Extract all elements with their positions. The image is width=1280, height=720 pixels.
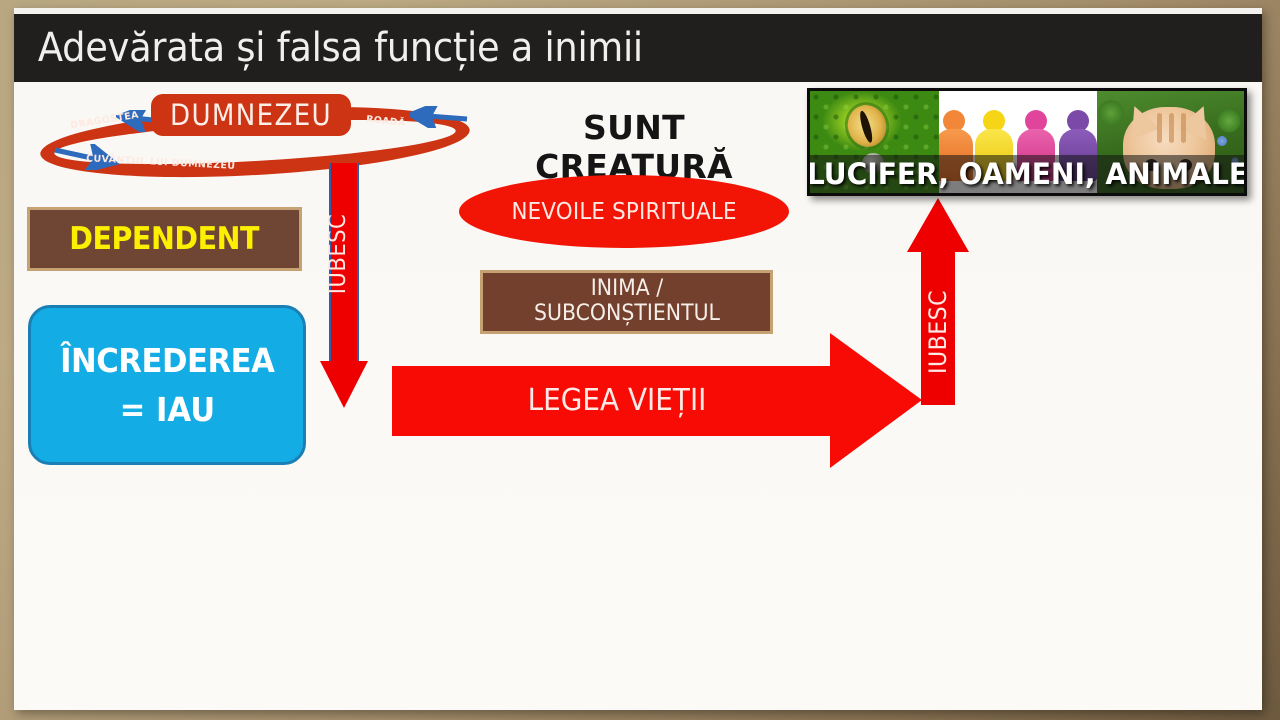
legea-vietii-arrow: LEGEA VIEȚII — [392, 333, 922, 468]
nevoile-spirituale-label: NEVOILE SPIRITUALE — [511, 199, 736, 225]
slide-frame: Adevărata și falsa funcție a inimii — [0, 0, 1280, 720]
dumnezeu-box: DUMNEZEU — [151, 94, 351, 136]
snake-pupil-icon — [858, 110, 875, 144]
inima-subconstientul-box: INIMA / SUBCONȘTIENTUL — [480, 270, 773, 334]
iubesc-down-label: IUBESC — [325, 190, 351, 319]
photo-caption: LUCIFER, OAMENI, ANIMALE — [807, 157, 1247, 191]
incredere-label-line1: ÎNCREDEREA — [60, 341, 274, 380]
dumnezeu-cycle-diagram: DUMNEZEU DRAGOSTEA ROADĂ CUVÂNTUL LUI DU… — [28, 92, 478, 182]
dumnezeu-label: DUMNEZEU — [170, 98, 332, 132]
iubesc-down-arrow: IUBESC — [320, 163, 368, 408]
lucifer-oameni-animale-image: LUCIFER, OAMENI, ANIMALE — [807, 88, 1247, 196]
kitten-stripe — [1169, 113, 1174, 143]
incredere-box: ÎNCREDEREA = IAU — [28, 305, 306, 465]
kitten-stripe — [1157, 113, 1162, 143]
arrow-head-icon — [320, 361, 368, 408]
slide-canvas: Adevărata și falsa funcție a inimii — [14, 8, 1262, 710]
inima-label-line2: SUBCONȘTIENTUL — [534, 302, 720, 327]
photo-caption-band: LUCIFER, OAMENI, ANIMALE — [810, 155, 1244, 193]
page-title: Adevărata și falsa funcție a inimii — [14, 25, 643, 71]
dependent-label: DEPENDENT — [70, 221, 260, 257]
inima-label-line1: INIMA / — [590, 277, 662, 302]
iubesc-up-label: IUBESC — [924, 268, 952, 397]
slide-title-bar: Adevărata și falsa funcție a inimii — [14, 14, 1262, 82]
dependent-box: DEPENDENT — [27, 207, 302, 271]
iubesc-up-arrow: IUBESC — [907, 198, 969, 405]
kitten-stripe — [1181, 113, 1186, 143]
legea-vietii-label: LEGEA VIEȚII — [408, 383, 827, 418]
nevoile-spirituale-ellipse: NEVOILE SPIRITUALE — [459, 175, 789, 248]
arrow-to-roada-icon — [409, 106, 471, 128]
arrow-head-icon — [907, 198, 969, 252]
incredere-label-line2: = IAU — [119, 390, 215, 429]
